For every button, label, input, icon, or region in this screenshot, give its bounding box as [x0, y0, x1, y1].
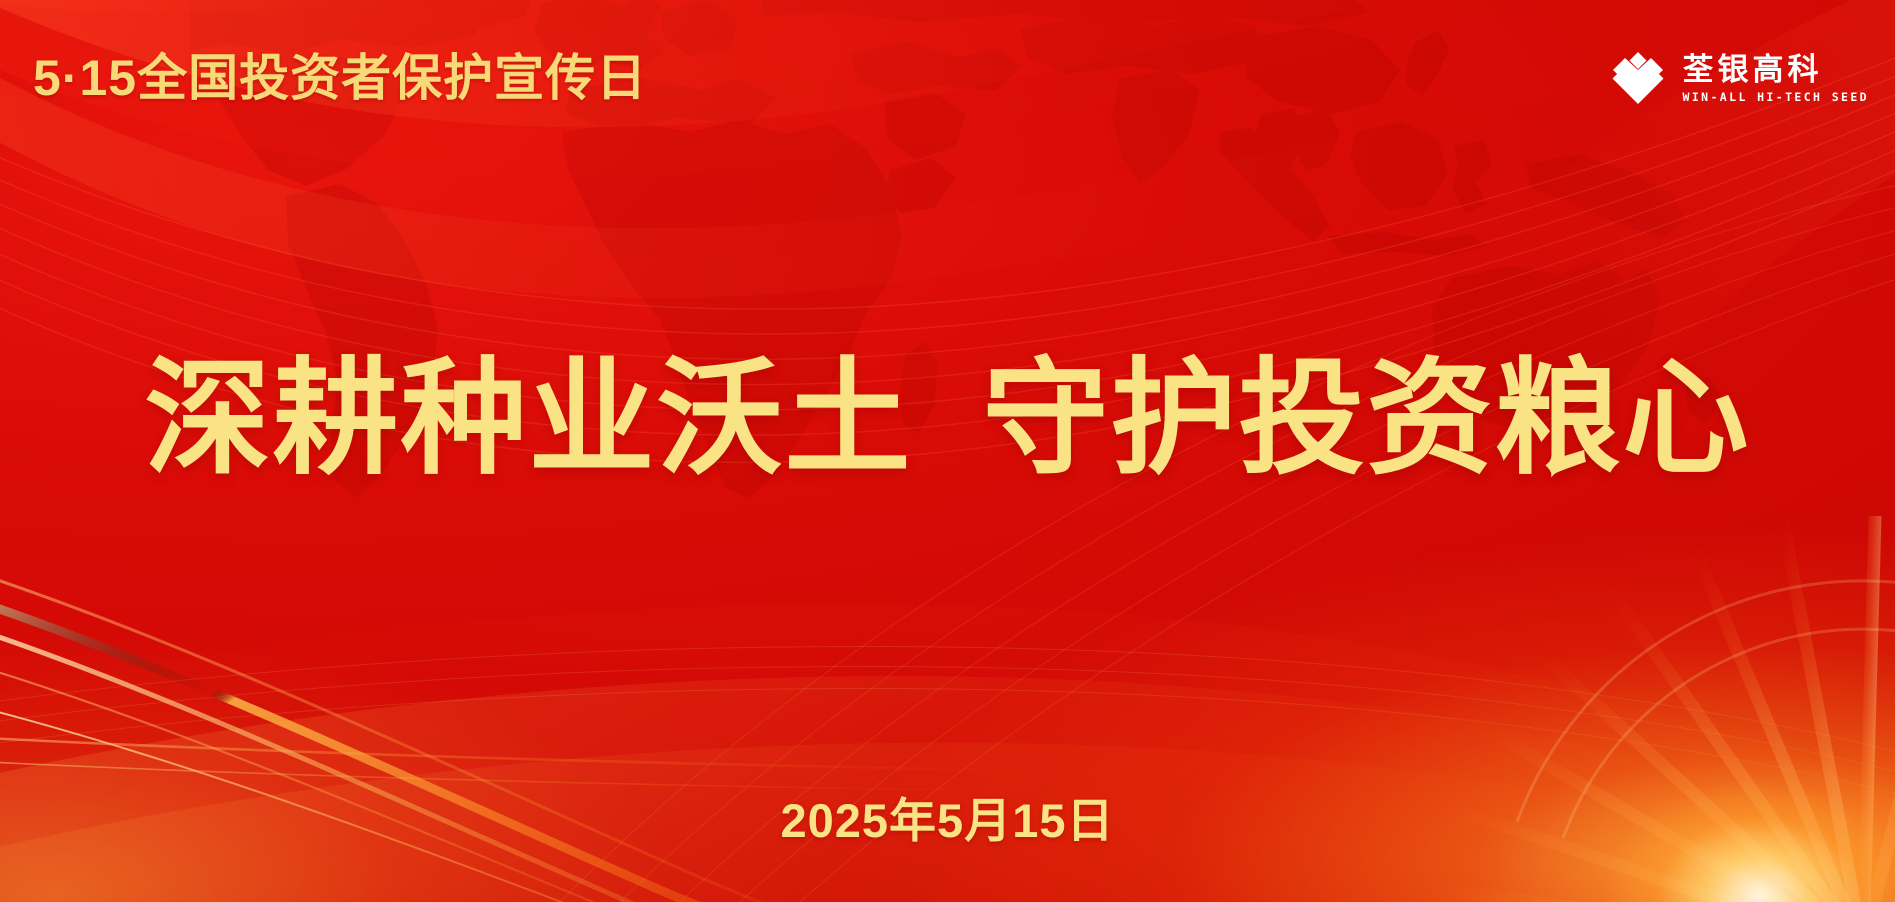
headline-part-1: 深耕种业沃土: [145, 348, 913, 489]
brand-lockup: 荃银高科 WIN-ALL HI-TECH SEED: [1607, 50, 1869, 108]
poster-canvas: 5·15全国投资者保护宣传日 荃银高科 WIN-ALL HI-TECH SEED: [0, 0, 1895, 902]
brand-name-cn: 荃银高科: [1683, 54, 1869, 87]
chevron-diamond-logo-mark-icon: [1607, 50, 1669, 108]
poster-content: 5·15全国投资者保护宣传日 荃银高科 WIN-ALL HI-TECH SEED: [0, 0, 1895, 902]
event-date: 2025年5月15日: [0, 797, 1895, 844]
campaign-title: 5·15全国投资者保护宣传日: [33, 53, 647, 103]
main-headline: 深耕种业沃土守护投资粮心: [0, 342, 1895, 496]
brand-name-en: WIN-ALL HI-TECH SEED: [1683, 92, 1869, 104]
brand-text-block: 荃银高科 WIN-ALL HI-TECH SEED: [1683, 54, 1869, 103]
headline-part-2: 守护投资粮心: [983, 348, 1751, 489]
